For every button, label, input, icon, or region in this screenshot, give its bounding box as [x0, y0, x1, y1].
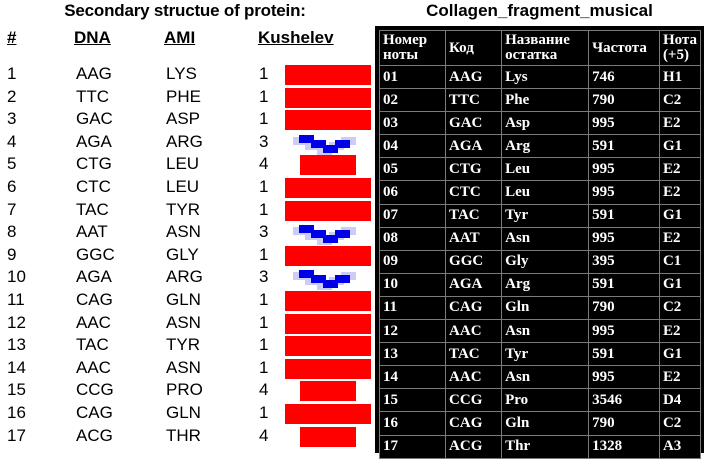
column-header-dna: DNA [74, 28, 111, 48]
cell-kushelev: 1 [259, 358, 268, 378]
cell-ami: TYR [166, 200, 200, 220]
table-cell: 746 [589, 66, 660, 89]
table-cell: 07 [380, 204, 446, 227]
cell-kushelev: 1 [259, 64, 268, 84]
protein-row: 1AAGLYS1 [0, 64, 375, 87]
cell-num: 16 [7, 403, 26, 423]
cell-dna: GAC [76, 109, 113, 129]
table-cell: ACG [446, 435, 502, 458]
structure-helix-bar [285, 246, 371, 267]
cell-kushelev: 1 [259, 245, 268, 265]
table-row: 02TTCPhe790C2 [380, 89, 701, 112]
table-cell: C2 [659, 89, 700, 112]
protein-row: 15CCGPRO4 [0, 380, 375, 403]
table-cell: Asn [502, 227, 589, 250]
cell-kushelev: 1 [259, 109, 268, 129]
table-cell: 16 [380, 412, 446, 435]
structure-helix-bar [285, 291, 371, 312]
table-cell: 995 [589, 158, 660, 181]
table-cell: 01 [380, 66, 446, 89]
protein-row: 16CAGGLN1 [0, 403, 375, 426]
table-cell: 591 [589, 273, 660, 296]
table-cell: 05 [380, 158, 446, 181]
cell-ami: ASP [166, 109, 200, 129]
structure-helix-bar [285, 88, 371, 109]
table-cell: 08 [380, 227, 446, 250]
zigzag-arrow-block [335, 230, 350, 238]
zigzag-arrow-block [335, 140, 350, 148]
table-cell: 395 [589, 250, 660, 273]
table-cell: C2 [659, 296, 700, 319]
table-row: 05CTGLeu995E2 [380, 158, 701, 181]
protein-structure-panel: Secondary structue of protein: # DNA AMI… [0, 0, 375, 453]
table-row: 14AACAsn995E2 [380, 366, 701, 389]
sheet-zigzag [285, 268, 371, 290]
table-cell: G1 [659, 343, 700, 366]
cell-ami: PRO [166, 380, 203, 400]
structure-turn-bar [285, 381, 371, 402]
cell-dna: AGA [76, 132, 112, 152]
table-cell: TAC [446, 204, 502, 227]
helix-bar [285, 314, 371, 334]
cell-ami: LEU [166, 177, 199, 197]
cell-kushelev: 1 [259, 290, 268, 310]
cell-ami: GLN [166, 290, 201, 310]
structure-turn-bar [285, 155, 371, 176]
cell-ami: TYR [166, 335, 200, 355]
table-cell: E2 [659, 158, 700, 181]
table-cell: 995 [589, 112, 660, 135]
column-header-kushelev: Kushelev [258, 28, 334, 48]
helix-bar [285, 246, 371, 266]
table-cell: CAG [446, 296, 502, 319]
table-cell: 3546 [589, 389, 660, 412]
table-row: 07TACTyr591G1 [380, 204, 701, 227]
cell-num: 13 [7, 335, 26, 355]
structure-turn-bar [285, 427, 371, 448]
table-cell: Phe [502, 89, 589, 112]
turn-bar [300, 381, 356, 401]
protein-row: 9GGCGLY1 [0, 245, 375, 268]
cell-kushelev: 4 [259, 426, 268, 446]
table-cell: Tyr [502, 343, 589, 366]
cell-kushelev: 4 [259, 154, 268, 174]
table-cell: 591 [589, 343, 660, 366]
table-row: 15CCGPro3546D4 [380, 389, 701, 412]
table-cell: E2 [659, 112, 700, 135]
table-cell: AGA [446, 273, 502, 296]
table-cell: 11 [380, 296, 446, 319]
table-cell: 06 [380, 181, 446, 204]
cell-dna: CTG [76, 154, 112, 174]
table-cell: C1 [659, 250, 700, 273]
helix-bar [285, 336, 371, 356]
table-cell: CCG [446, 389, 502, 412]
cell-kushelev: 3 [259, 222, 268, 242]
cell-ami: THR [166, 426, 201, 446]
table-cell: Lys [502, 66, 589, 89]
protein-row: 10AGAARG3 [0, 267, 375, 290]
cell-dna: GGC [76, 245, 115, 265]
musical-table-panel: Collagen_fragment_musical Номер нотыКодН… [375, 0, 704, 453]
table-container: Номер нотыКодНазвание остаткаЧастотаНота… [375, 26, 704, 453]
table-cell: CAG [446, 412, 502, 435]
right-panel-title: Collagen_fragment_musical [375, 1, 704, 21]
cell-num: 11 [7, 290, 25, 310]
table-row: 16CAGGln790C2 [380, 412, 701, 435]
table-column-header: Нота (+5) [659, 31, 700, 66]
table-cell: Asp [502, 112, 589, 135]
structure-helix-bar [285, 314, 371, 335]
table-cell: 17 [380, 435, 446, 458]
table-cell: 12 [380, 320, 446, 343]
table-cell: G1 [659, 135, 700, 158]
helix-bar [285, 404, 371, 424]
helix-bar [285, 291, 371, 311]
table-cell: Pro [502, 389, 589, 412]
structure-sheet-zigzag [285, 268, 371, 289]
cell-num: 15 [7, 380, 26, 400]
table-cell: 03 [380, 112, 446, 135]
zigzag-arrow-block [335, 275, 350, 283]
cell-num: 9 [7, 245, 16, 265]
table-cell: 995 [589, 366, 660, 389]
table-cell: Gln [502, 412, 589, 435]
cell-num: 3 [7, 109, 16, 129]
table-cell: Leu [502, 158, 589, 181]
table-cell: 13 [380, 343, 446, 366]
table-cell: E2 [659, 227, 700, 250]
table-cell: 14 [380, 366, 446, 389]
table-cell: 04 [380, 135, 446, 158]
cell-num: 8 [7, 222, 16, 242]
column-header-ami: AMI [164, 28, 195, 48]
protein-row: 8AATASN3 [0, 222, 375, 245]
table-cell: A3 [659, 435, 700, 458]
table-cell: 15 [380, 389, 446, 412]
table-cell: GAC [446, 112, 502, 135]
table-row: 17ACGThr1328A3 [380, 435, 701, 458]
table-cell: 1328 [589, 435, 660, 458]
table-row: 12AACAsn995E2 [380, 320, 701, 343]
sheet-zigzag [285, 223, 371, 245]
protein-row: 6CTCLEU1 [0, 177, 375, 200]
protein-row: 17ACGTHR4 [0, 426, 375, 449]
table-cell: Tyr [502, 204, 589, 227]
table-cell: CTC [446, 181, 502, 204]
helix-bar [285, 88, 371, 108]
protein-row: 13TACTYR1 [0, 335, 375, 358]
table-header-row: Номер нотыКодНазвание остаткаЧастотаНота… [380, 31, 701, 66]
table-cell: D4 [659, 389, 700, 412]
table-cell: 591 [589, 135, 660, 158]
table-cell: 995 [589, 227, 660, 250]
cell-num: 7 [7, 200, 16, 220]
protein-row: 12AACASN1 [0, 313, 375, 336]
helix-bar [285, 65, 371, 85]
table-cell: Gln [502, 296, 589, 319]
left-panel-title: Secondary structue of protein: [0, 1, 370, 21]
cell-dna: AAC [76, 313, 111, 333]
table-cell: Asn [502, 366, 589, 389]
helix-bar [285, 359, 371, 379]
cell-num: 14 [7, 358, 26, 378]
cell-dna: CCG [76, 380, 114, 400]
protein-row: 3GACASP1 [0, 109, 375, 132]
cell-num: 6 [7, 177, 16, 197]
cell-kushelev: 1 [259, 87, 268, 107]
cell-num: 17 [7, 426, 26, 446]
table-cell: 790 [589, 89, 660, 112]
table-cell: AGA [446, 135, 502, 158]
table-column-header: Частота [589, 31, 660, 66]
cell-dna: AAG [76, 64, 112, 84]
cell-dna: AGA [76, 267, 112, 287]
table-column-header: Название остатка [502, 31, 589, 66]
table-cell: E2 [659, 181, 700, 204]
cell-ami: ASN [166, 222, 201, 242]
table-cell: Arg [502, 273, 589, 296]
table-body: 01AAGLys746H102TTCPhe790C203GACAsp995E20… [380, 66, 701, 459]
protein-row: 5CTGLEU4 [0, 154, 375, 177]
table-cell: TAC [446, 343, 502, 366]
collagen-musical-table: Номер нотыКодНазвание остаткаЧастотаНота… [379, 30, 701, 459]
table-cell: Gly [502, 250, 589, 273]
protein-row: 7TACTYR1 [0, 200, 375, 223]
table-column-header: Код [446, 31, 502, 66]
cell-ami: GLN [166, 403, 201, 423]
table-row: 08AATAsn995E2 [380, 227, 701, 250]
cell-num: 12 [7, 313, 26, 333]
cell-ami: LYS [166, 64, 197, 84]
table-cell: 10 [380, 273, 446, 296]
cell-kushelev: 1 [259, 403, 268, 423]
structure-helix-bar [285, 178, 371, 199]
cell-kushelev: 3 [259, 132, 268, 152]
structure-helix-bar [285, 404, 371, 425]
table-cell: AAC [446, 320, 502, 343]
table-row: 03GACAsp995E2 [380, 112, 701, 135]
protein-row: 11CAGGLN1 [0, 290, 375, 313]
table-cell: 790 [589, 412, 660, 435]
cell-num: 4 [7, 132, 16, 152]
table-row: 04AGAArg591G1 [380, 135, 701, 158]
protein-row: 14AACASN1 [0, 358, 375, 381]
structure-helix-bar [285, 110, 371, 131]
structure-helix-bar [285, 336, 371, 357]
cell-ami: ARG [166, 132, 203, 152]
table-cell: Arg [502, 135, 589, 158]
table-row: 01AAGLys746H1 [380, 66, 701, 89]
table-head: Номер нотыКодНазвание остаткаЧастотаНота… [380, 31, 701, 66]
table-row: 09GGCGly395C1 [380, 250, 701, 273]
cell-ami: PHE [166, 87, 201, 107]
table-cell: Thr [502, 435, 589, 458]
cell-ami: GLY [166, 245, 199, 265]
table-cell: 790 [589, 296, 660, 319]
cell-dna: CAG [76, 403, 113, 423]
cell-dna: AAC [76, 358, 111, 378]
structure-helix-bar [285, 65, 371, 86]
structure-sheet-zigzag [285, 223, 371, 244]
cell-kushelev: 4 [259, 380, 268, 400]
table-column-header: Номер ноты [380, 31, 446, 66]
cell-kushelev: 1 [259, 313, 268, 333]
turn-bar [300, 427, 356, 447]
table-row: 13TACTyr591G1 [380, 343, 701, 366]
cell-dna: AAT [76, 222, 108, 242]
table-cell: G1 [659, 273, 700, 296]
table-cell: TTC [446, 89, 502, 112]
table-row: 10AGAArg591G1 [380, 273, 701, 296]
cell-dna: TAC [76, 335, 109, 355]
table-cell: AAC [446, 366, 502, 389]
cell-num: 2 [7, 87, 16, 107]
cell-dna: TAC [76, 200, 109, 220]
turn-bar [300, 155, 356, 175]
cell-dna: CAG [76, 290, 113, 310]
table-cell: H1 [659, 66, 700, 89]
cell-ami: ASN [166, 358, 201, 378]
table-cell: 995 [589, 320, 660, 343]
table-cell: 02 [380, 89, 446, 112]
table-row: 06CTCLeu995E2 [380, 181, 701, 204]
structure-helix-bar [285, 201, 371, 222]
cell-dna: CTC [76, 177, 111, 197]
cell-kushelev: 1 [259, 200, 268, 220]
cell-ami: ARG [166, 267, 203, 287]
helix-bar [285, 110, 371, 130]
cell-num: 10 [7, 267, 26, 287]
cell-kushelev: 1 [259, 177, 268, 197]
table-cell: AAT [446, 227, 502, 250]
table-cell: E2 [659, 366, 700, 389]
protein-row-list: 1AAGLYS12TTCPHE13GACASP14AGAARG35CTGLEU4… [0, 64, 375, 448]
protein-row: 2TTCPHE1 [0, 87, 375, 110]
cell-num: 5 [7, 154, 16, 174]
table-cell: E2 [659, 320, 700, 343]
table-cell: G1 [659, 204, 700, 227]
table-cell: Asn [502, 320, 589, 343]
table-cell: CTG [446, 158, 502, 181]
table-cell: AAG [446, 66, 502, 89]
helix-bar [285, 201, 371, 221]
cell-kushelev: 1 [259, 335, 268, 355]
table-row: 11CAGGln790C2 [380, 296, 701, 319]
cell-num: 1 [7, 64, 16, 84]
table-cell: 995 [589, 181, 660, 204]
table-cell: Leu [502, 181, 589, 204]
cell-dna: TTC [76, 87, 109, 107]
cell-kushelev: 3 [259, 267, 268, 287]
table-cell: GGC [446, 250, 502, 273]
cell-ami: LEU [166, 154, 199, 174]
table-cell: 09 [380, 250, 446, 273]
table-cell: 591 [589, 204, 660, 227]
sheet-zigzag [285, 133, 371, 155]
cell-dna: ACG [76, 426, 113, 446]
structure-sheet-zigzag [285, 133, 371, 154]
table-cell: C2 [659, 412, 700, 435]
column-header-number: # [7, 28, 16, 48]
structure-helix-bar [285, 359, 371, 380]
helix-bar [285, 178, 371, 198]
protein-row: 4AGAARG3 [0, 132, 375, 155]
cell-ami: ASN [166, 313, 201, 333]
